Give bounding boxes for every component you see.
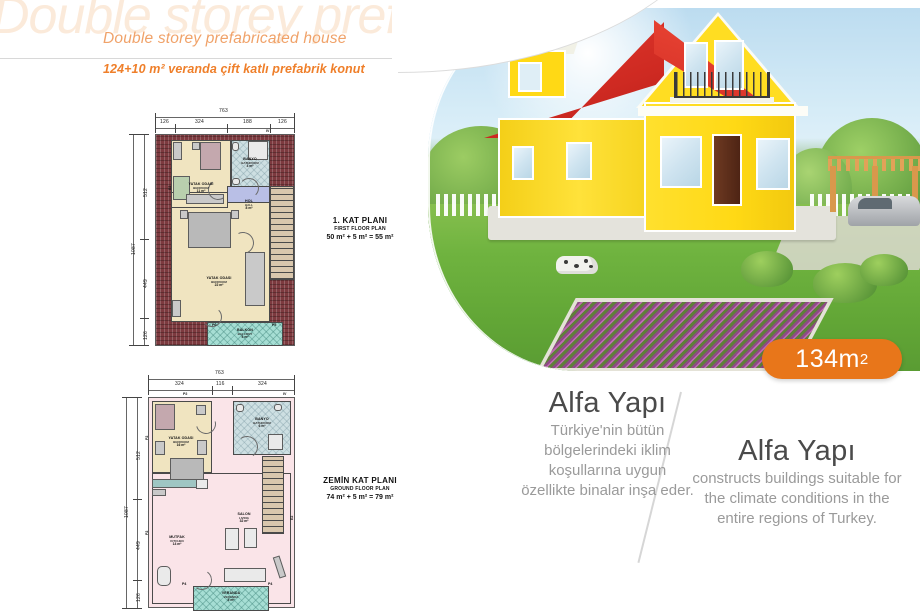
slogan-block: Alfa Yapı Türkiye'nin bütün bölgelerinde…	[520, 388, 920, 573]
fridge	[196, 479, 208, 489]
dim-tick	[133, 580, 142, 581]
armchair	[244, 528, 257, 548]
room-area: 16 m²	[158, 444, 204, 448]
ground-floor-plan: 763 324 116 324 P2 IV 1087 512 449 126	[0, 0, 430, 615]
plan-title-en: GROUND FLOOR PLAN	[300, 486, 420, 492]
house-photo	[428, 8, 920, 371]
tag-label: P4	[268, 582, 272, 586]
room-label-bathroom: BANYO BATHROOM 6 m²	[240, 418, 284, 429]
tag-label: IV	[283, 392, 286, 396]
dim-line	[148, 379, 295, 380]
dog-spot	[564, 260, 568, 264]
room-label-veranda: VERANDA VERANDA 5 m²	[208, 592, 254, 603]
kitchen-cabinet	[152, 489, 166, 496]
window	[566, 142, 592, 180]
dim-seg-top-3: 324	[258, 381, 267, 387]
dim-tick	[122, 397, 142, 398]
dim-tick	[294, 375, 295, 395]
window	[512, 146, 534, 180]
bush	[860, 254, 908, 286]
window	[756, 138, 790, 190]
dim-tick	[232, 386, 233, 395]
balcony-railing	[674, 72, 770, 98]
dog-spot	[584, 259, 588, 263]
sofa	[224, 568, 266, 582]
dim-line	[137, 397, 138, 609]
dim-seg-left-1: 512	[136, 451, 142, 460]
area-badge-unit: 2	[860, 351, 869, 368]
dim-seg-top-2: 116	[216, 381, 225, 387]
house-photo-image	[428, 8, 920, 371]
car-window	[858, 198, 892, 209]
tag-label: P2	[145, 436, 149, 440]
dog-spot	[589, 265, 593, 268]
dim-seg-top-1: 324	[175, 381, 184, 387]
pergola-post	[830, 166, 836, 212]
shower	[268, 434, 283, 450]
roof-eave	[638, 106, 808, 116]
dim-line	[148, 390, 295, 391]
ground-floor-plan-title: ZEMİN KAT PLANI GROUND FLOOR PLAN 74 m² …	[300, 476, 420, 501]
plan-area: 74 m² + 5 m² = 79 m²	[300, 494, 420, 501]
dalmatian-dog	[556, 256, 598, 274]
front-door	[712, 134, 742, 206]
room-area: 14 m²	[155, 543, 199, 547]
slogan-english: Alfa Yapı constructs buildings suitable …	[688, 436, 906, 529]
dim-tick	[212, 386, 213, 395]
house-render	[488, 18, 848, 268]
window	[660, 136, 702, 188]
brochure-page: Double storey prefabricated Double store…	[0, 0, 920, 615]
dormer-window	[518, 62, 542, 92]
slogan-text-tr: Türkiye'nin bütün bölgelerindeki iklim k…	[520, 421, 695, 500]
room-label-bedroom: YATAK ODASI BEDROOM 16 m²	[158, 437, 204, 448]
dim-seg-left-2: 449	[136, 541, 142, 550]
room-label-kitchen: MUTFAK KITCHEN 14 m²	[155, 536, 199, 547]
room-label-living: SALON LIVING 32 m²	[222, 513, 266, 524]
room-area: 32 m²	[222, 520, 266, 524]
plan-title-tr: ZEMİN KAT PLANI	[300, 476, 420, 485]
bush	[741, 251, 793, 287]
area-badge-value: 134m	[795, 345, 860, 374]
tag-label: P2	[145, 531, 149, 535]
area-badge: 134m2	[762, 339, 902, 379]
dim-tick	[148, 375, 149, 395]
bed	[155, 404, 175, 430]
dim-seg-left-3: 126	[136, 593, 142, 602]
brand-name-tr: Alfa Yapı	[520, 388, 695, 418]
slogan-turkish: Alfa Yapı Türkiye'nin bütün bölgelerinde…	[520, 388, 695, 501]
tag-label: P2	[183, 392, 187, 396]
armchair	[225, 528, 239, 550]
dining-set	[157, 566, 171, 586]
tag-label: E2	[290, 516, 294, 520]
toilet	[236, 404, 244, 412]
dim-tick	[133, 499, 142, 500]
brand-name-en: Alfa Yapı	[688, 436, 906, 466]
dog-spot	[574, 264, 579, 268]
dim-total-left: 1087	[124, 506, 130, 518]
slogan-text-en: constructs buildings suitable for the cl…	[688, 469, 906, 528]
room-area: 6 m²	[240, 425, 284, 429]
double-bed	[170, 458, 204, 480]
sink	[274, 404, 282, 411]
tag-label: P4	[182, 582, 186, 586]
room-area: 5 m²	[208, 599, 254, 603]
dim-total-top: 763	[215, 370, 224, 376]
dim-tick	[122, 608, 142, 609]
dim-line	[126, 397, 127, 609]
